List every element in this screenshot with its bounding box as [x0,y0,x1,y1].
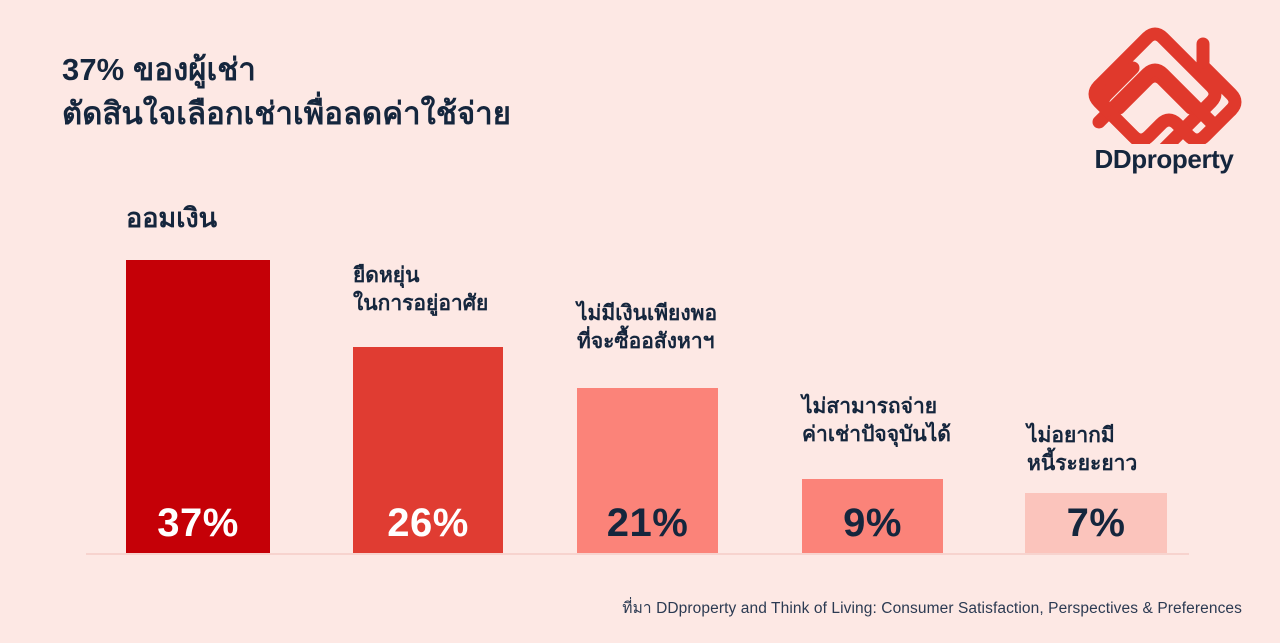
chart-baseline [86,553,1189,555]
bar-value-0: 37% [126,503,270,543]
bar-1[interactable]: 26% [353,347,503,553]
bar-label-0-line-0: ออมเงิน [126,200,217,236]
bar-label-1-line-1: ในการอยู่อาศัย [353,290,488,318]
bar-label-2-line-0: ไม่มีเงินเพียงพอ [577,300,717,328]
bar-label-3-line-1: ค่าเช่าปัจจุบันได้ [802,421,951,449]
bar-value-1: 26% [353,503,503,543]
bar-4[interactable]: 7% [1025,493,1167,553]
source-attribution: ที่มา DDproperty and Think of Living: Co… [0,595,1242,620]
bar-label-0: ออมเงิน [126,200,217,236]
bar-label-1: ยืดหยุ่น ในการอยู่อาศัย [353,262,488,318]
bar-0[interactable]: 37% [126,260,270,553]
bar-value-2: 21% [577,503,718,543]
bar-label-1-line-0: ยืดหยุ่น [353,262,488,290]
bar-label-2: ไม่มีเงินเพียงพอ ที่จะซื้ออสังหาฯ [577,300,717,356]
bar-label-4: ไม่อยากมี หนี้ระยะยาว [1027,422,1137,478]
bar-label-3-line-0: ไม่สามารถจ่าย [802,393,951,421]
bar-label-2-line-1: ที่จะซื้ออสังหาฯ [577,328,717,356]
bar-chart: ออมเงิน 37% ยืดหยุ่น ในการอยู่อาศัย 26% … [0,0,1280,643]
infographic-root: 37% ของผู้เช่า ตัดสินใจเลือกเช่าเพื่อลดค… [0,0,1280,643]
bar-2[interactable]: 21% [577,388,718,553]
bar-label-4-line-0: ไม่อยากมี [1027,422,1137,450]
bar-3[interactable]: 9% [802,479,943,553]
bar-value-4: 7% [1025,503,1167,543]
bar-label-3: ไม่สามารถจ่าย ค่าเช่าปัจจุบันได้ [802,393,951,449]
bar-value-3: 9% [802,503,943,543]
bar-label-4-line-1: หนี้ระยะยาว [1027,450,1137,478]
